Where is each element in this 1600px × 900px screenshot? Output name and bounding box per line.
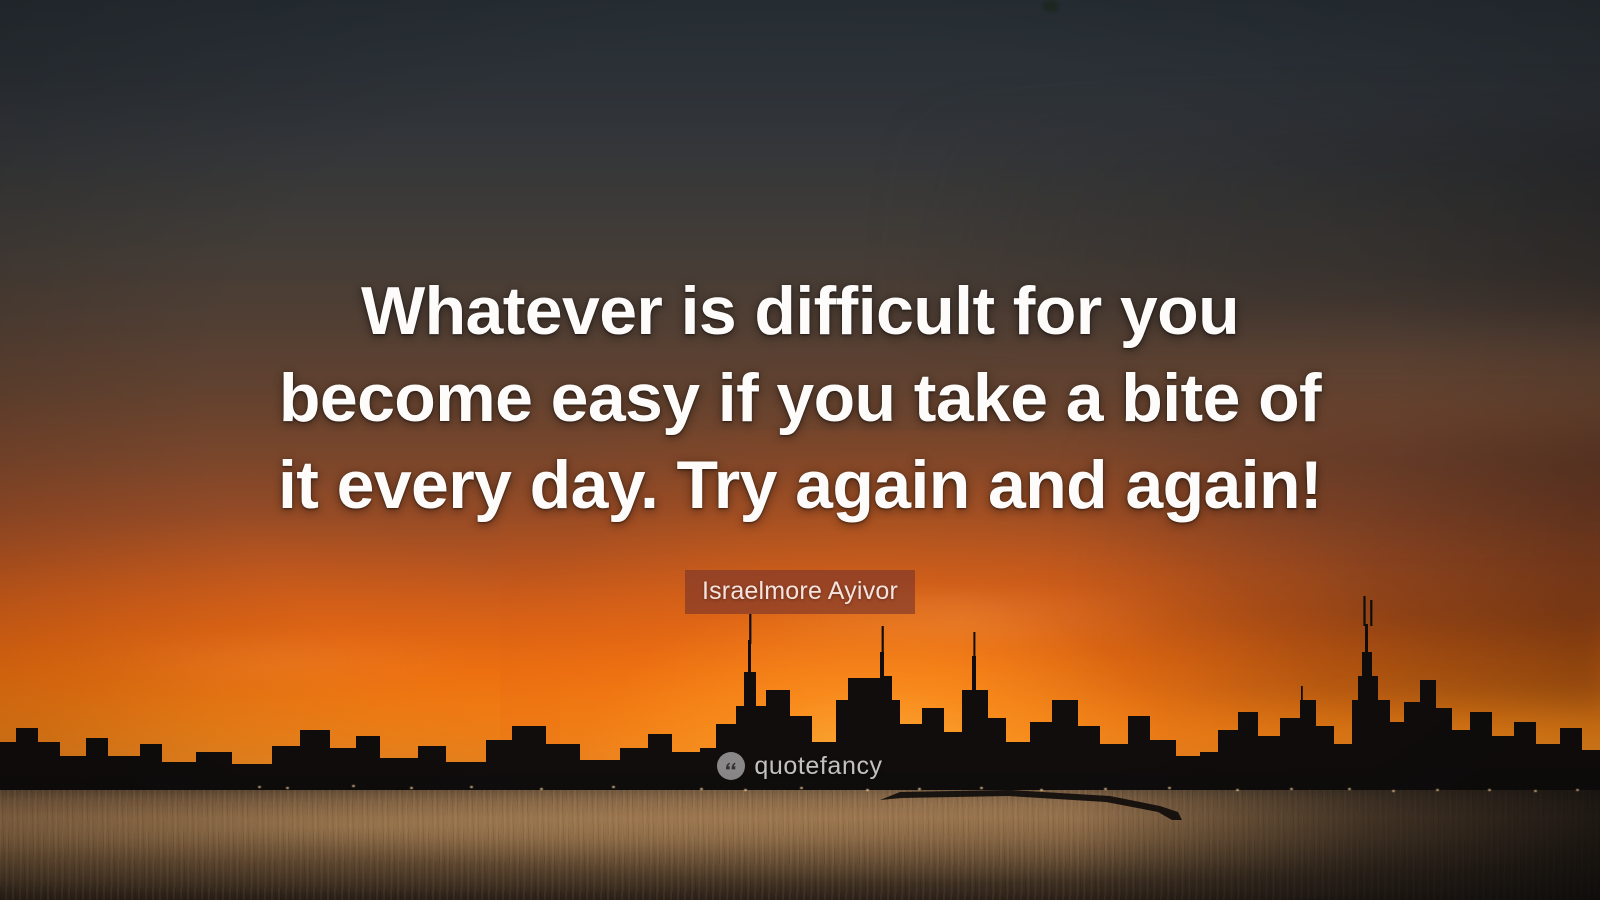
quote-line-3: it every day. Try again and again! xyxy=(0,442,1600,529)
quote-mark-icon xyxy=(717,752,745,780)
quote-poster: Whatever is difficult for you become eas… xyxy=(0,0,1600,900)
quote-line-1: Whatever is difficult for you xyxy=(0,268,1600,355)
watermark: quotefancy xyxy=(0,752,1600,780)
bird-silhouette xyxy=(1043,0,1059,12)
quote-line-2: become easy if you take a bite of xyxy=(0,355,1600,442)
watermark-brand: quotefancy xyxy=(754,752,882,780)
water-surface xyxy=(0,786,1600,900)
author-attribution: Israelmore Ayivor xyxy=(0,570,1600,614)
quote-text: Whatever is difficult for you become eas… xyxy=(0,268,1600,529)
author-name-badge: Israelmore Ayivor xyxy=(685,570,915,614)
